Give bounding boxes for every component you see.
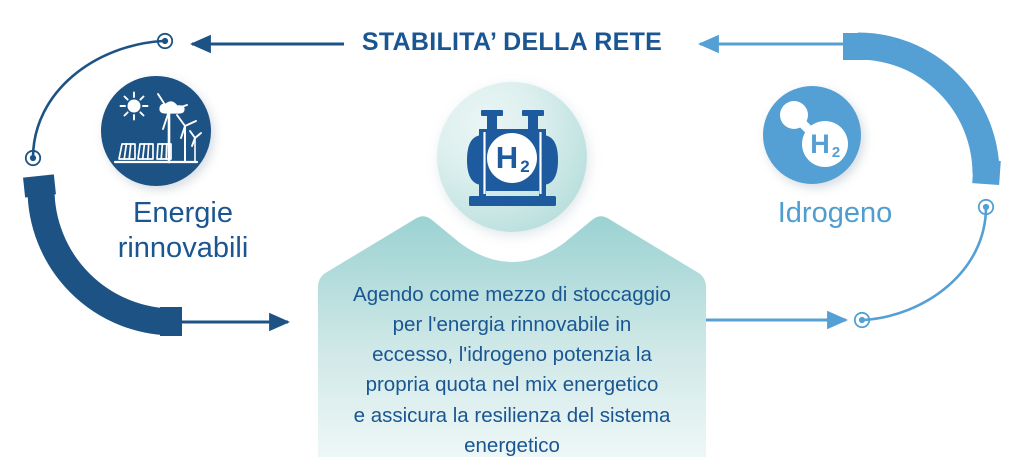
svg-text:2: 2 [832,144,840,161]
center-text-line: per l'energia rinnovabile in [302,310,722,340]
svg-text:H: H [496,140,518,175]
thick-arc-right [843,33,1001,185]
label-idrogeno: Idrogeno [690,196,980,231]
svg-text:2: 2 [520,157,529,176]
label-energie-rinnovabili: Energie rinnovabili [38,196,328,267]
hydrogen-molecule-icon: H 2 [763,86,861,184]
hydrogen-storage-tank-icon: H 2 [437,82,587,232]
infographic-canvas: STABILITA’ DELLA RETE [0,0,1024,473]
center-text-line: Agendo come mezzo di stoccaggio [302,280,722,310]
center-text-line: eccesso, l'idrogeno potenzia la [302,340,722,370]
svg-text:H: H [810,129,830,159]
page-title: STABILITA’ DELLA RETE [312,28,712,57]
renewable-energy-icon [101,76,211,186]
center-text-line: propria quota nel mix energetico [302,370,722,400]
center-text-line: e assicura la resilienza del sistema [302,401,722,431]
center-text-line: energetico [302,431,722,461]
center-description: Agendo come mezzo di stoccaggio per l'en… [302,280,722,461]
